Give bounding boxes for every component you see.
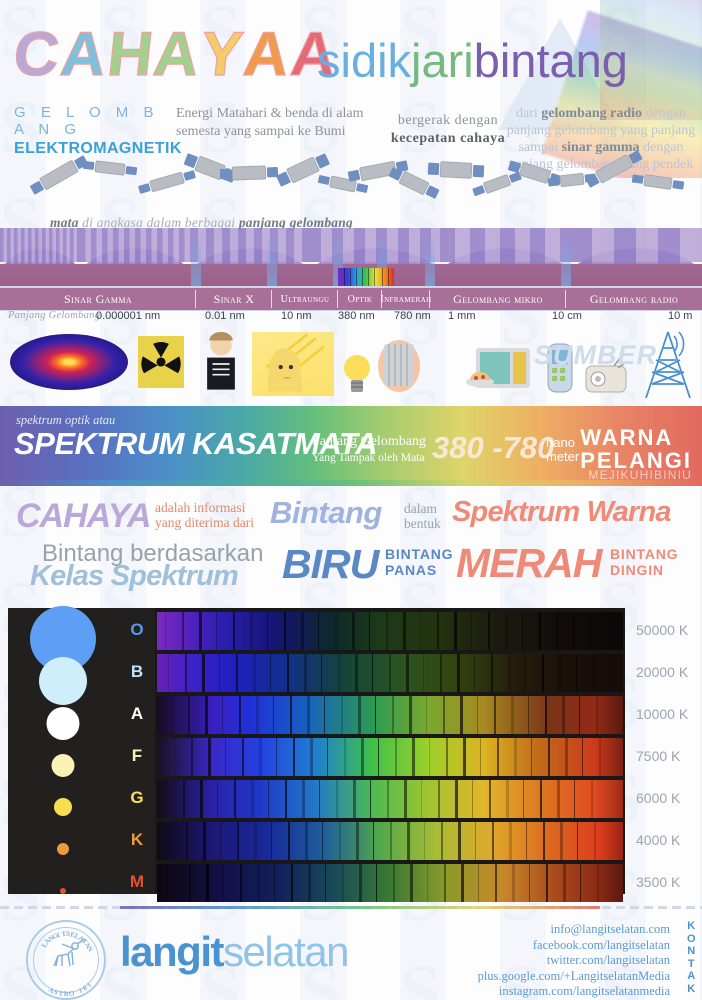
spectral-line xyxy=(368,268,369,286)
wavelength-value: 780 nm xyxy=(394,310,431,322)
em-band-gelombang-radio: Gelombang radio xyxy=(566,288,702,310)
absorption-line xyxy=(236,654,238,692)
spectral-line xyxy=(350,268,351,286)
absorption-line xyxy=(308,864,311,902)
absorption-line xyxy=(378,738,379,776)
absorption-line xyxy=(494,696,496,734)
absorption-line xyxy=(557,780,560,818)
absorption-line xyxy=(257,864,260,902)
wavelength-value: 1 mm xyxy=(448,310,476,322)
absorption-line xyxy=(580,864,581,902)
absorption-line xyxy=(370,780,371,818)
absorption-line xyxy=(523,780,524,818)
spectrum-divider xyxy=(0,480,702,486)
absorption-line xyxy=(480,738,481,776)
absorption-line xyxy=(169,822,170,860)
absorption-line xyxy=(225,738,226,776)
absorption-line xyxy=(182,612,184,650)
band-beam xyxy=(191,234,201,286)
absorption-line xyxy=(253,654,256,692)
wave-segment-top xyxy=(310,228,440,262)
absorption-line xyxy=(455,780,458,818)
absorption-line xyxy=(341,696,343,734)
absorption-line xyxy=(526,822,527,860)
absorption-line xyxy=(287,654,289,692)
title-letter: A xyxy=(151,19,205,90)
absorption-line xyxy=(203,822,206,860)
absorption-line xyxy=(509,822,512,860)
absorption-line xyxy=(542,654,544,692)
subtitle-word: sidik xyxy=(317,33,411,88)
satellite-icon xyxy=(398,171,429,196)
absorption-line xyxy=(206,864,209,902)
absorption-line xyxy=(511,696,514,734)
absorption-line xyxy=(259,738,262,776)
absorption-line xyxy=(273,696,274,734)
intro-fragment: dari xyxy=(516,106,541,121)
absorption-line xyxy=(189,864,191,902)
absorption-line xyxy=(438,780,440,818)
absorption-line xyxy=(185,654,187,692)
wave-segment-top xyxy=(190,228,310,262)
absorption-line xyxy=(239,696,241,734)
absorption-line xyxy=(254,822,257,860)
absorption-line xyxy=(305,822,308,860)
absorption-line xyxy=(386,612,388,650)
absorption-line xyxy=(577,822,578,860)
absorption-line xyxy=(489,780,491,818)
absorption-line xyxy=(223,864,224,902)
contact-line[interactable]: twitter.com/langitselatan xyxy=(478,953,670,969)
satellite-icon xyxy=(286,156,320,183)
contact-line[interactable]: instagram.com/langitselatanmedia xyxy=(478,984,670,1000)
wave-segment-top xyxy=(440,228,570,262)
absorption-line xyxy=(407,822,410,860)
absorption-line xyxy=(285,780,287,818)
satellite-icon xyxy=(643,174,672,190)
absorption-line xyxy=(234,780,236,818)
wavelength-value: 0.01 nm xyxy=(205,310,245,322)
band-beam xyxy=(425,234,435,286)
spectral-line xyxy=(356,268,357,286)
absorption-line xyxy=(423,654,424,692)
satellite-icon xyxy=(440,161,473,179)
absorption-line xyxy=(514,738,517,776)
page-title: CAHAYAA xyxy=(14,19,338,90)
absorption-line xyxy=(471,612,472,650)
absorption-line xyxy=(291,864,293,902)
absorption-line xyxy=(454,612,457,650)
visible-caption: Panjang Gelombang Yang Tampak oleh Mata xyxy=(312,434,426,466)
absorption-line xyxy=(205,696,208,734)
absorption-line xyxy=(457,654,460,692)
absorption-line xyxy=(461,864,464,902)
absorption-line xyxy=(412,738,415,776)
infographic-page: SSSSSSSSSSSSSSSSSSSSSSSSSSSSSSSSSSSSSSSS… xyxy=(0,0,702,1000)
temperature-label-B: 20000 K xyxy=(636,664,688,680)
star-size-G xyxy=(54,798,72,816)
absorption-line xyxy=(387,780,389,818)
absorption-line xyxy=(477,696,478,734)
absorption-line xyxy=(217,780,218,818)
title-letter: H xyxy=(104,19,158,90)
absorption-line xyxy=(250,612,253,650)
absorption-line xyxy=(307,696,310,734)
adalah-line1: adalah informasi xyxy=(155,500,245,515)
absorption-line xyxy=(463,738,466,776)
mid-bintang: Bintang xyxy=(270,495,382,531)
absorption-line xyxy=(529,864,530,902)
absorption-line xyxy=(593,654,595,692)
absorption-line xyxy=(168,654,169,692)
band-beam xyxy=(561,234,571,286)
optical-spectrum-strip xyxy=(338,268,394,286)
absorption-line xyxy=(446,738,448,776)
absorption-line xyxy=(268,780,269,818)
subtitle-word: jari xyxy=(411,33,474,88)
absorption-line xyxy=(560,822,563,860)
spectrum-strip-K xyxy=(157,822,623,860)
absorption-line xyxy=(488,612,490,650)
absorption-line xyxy=(543,822,545,860)
satellite-icon xyxy=(519,162,552,184)
adalah-line2: yang diterima dari xyxy=(155,515,254,530)
absorption-line xyxy=(531,738,532,776)
absorption-line xyxy=(219,654,220,692)
absorption-line xyxy=(356,822,359,860)
visible-range: 380 -780 xyxy=(432,430,554,466)
speed-plain: bergerak dengan xyxy=(398,113,498,128)
spectral-line xyxy=(362,268,363,286)
absorption-line xyxy=(390,822,392,860)
absorption-line xyxy=(208,738,211,776)
absorption-line xyxy=(389,654,391,692)
star-size-column xyxy=(8,608,118,894)
absorption-line xyxy=(310,738,313,776)
mid-text-block: CAHAYA adalah informasi yang diterima da… xyxy=(0,490,702,590)
absorption-line xyxy=(421,780,422,818)
wave-segment-top xyxy=(80,228,190,262)
absorption-line xyxy=(392,696,394,734)
absorption-line xyxy=(200,780,203,818)
absorption-line xyxy=(546,864,548,902)
spectral-line xyxy=(374,268,375,286)
temperature-label-F: 7500 K xyxy=(636,748,680,764)
dalam-line1: dalam xyxy=(404,501,437,516)
spectrum-strip-M xyxy=(157,864,623,902)
absorption-line xyxy=(474,654,475,692)
dalam-line2: bentuk xyxy=(404,516,441,531)
absorption-line xyxy=(293,738,295,776)
absorption-line xyxy=(251,780,254,818)
absorption-line xyxy=(443,696,445,734)
absorption-line xyxy=(406,654,409,692)
logo-light: selatan xyxy=(223,928,348,975)
absorption-line xyxy=(359,864,362,902)
star-size-M xyxy=(60,888,66,894)
temperature-label-O: 50000 K xyxy=(636,622,688,638)
em-spectrum-band: Sinar GammaSinar XUltraunguOptikInframer… xyxy=(0,286,702,311)
biru-line2: PANAS xyxy=(385,562,437,578)
absorption-line xyxy=(460,696,463,734)
unit-line2: meter xyxy=(546,449,579,464)
absorption-line xyxy=(267,612,268,650)
absorption-line xyxy=(327,738,328,776)
absorption-line xyxy=(539,612,541,650)
absorption-line xyxy=(304,654,307,692)
absorption-line xyxy=(375,696,376,734)
absorption-line xyxy=(556,612,559,650)
absorption-line xyxy=(202,654,205,692)
absorption-line xyxy=(302,780,305,818)
temperature-label-K: 4000 K xyxy=(636,832,680,848)
absorption-line xyxy=(497,738,499,776)
absorption-line xyxy=(437,612,439,650)
absorption-line xyxy=(324,696,325,734)
spectrum-strip-F xyxy=(157,738,623,776)
absorption-line xyxy=(563,864,566,902)
absorption-line xyxy=(288,822,290,860)
absorption-line xyxy=(361,738,364,776)
contact-line[interactable]: info@langitselatan.com xyxy=(478,922,670,938)
absorption-line xyxy=(579,696,580,734)
rainbow-label: WARNA PELANGI xyxy=(580,426,692,472)
kontak-letter: A xyxy=(687,970,696,983)
visible-caption-line2: Yang Tampak oleh Mata xyxy=(312,452,424,464)
absorption-line xyxy=(424,822,425,860)
wavelength-axis-label: Panjang Gelombang xyxy=(8,310,100,321)
mid-adalah: adalah informasi yang diterima dari xyxy=(155,500,254,530)
kontak-label: KONTAK xyxy=(687,920,696,995)
absorption-line xyxy=(319,780,320,818)
absorption-line xyxy=(256,696,259,734)
langitselatan-seal-icon: LANGITSELATANASTRO 101 xyxy=(26,920,106,1000)
absorption-line xyxy=(191,738,193,776)
absorption-line xyxy=(573,612,574,650)
header: CAHAYAA sidik jari bintang G E L O M B A… xyxy=(0,0,702,178)
star-size-A xyxy=(47,707,80,740)
absorption-line xyxy=(274,864,275,902)
mid-spektrum-warna: Spektrum Warna xyxy=(452,496,671,529)
wave-segment-top xyxy=(570,228,702,262)
absorption-line xyxy=(404,780,407,818)
wavelength-row: Panjang Gelombang 0.000001 nm0.01 nm10 n… xyxy=(0,310,702,328)
temperature-label-G: 6000 K xyxy=(636,790,680,806)
absorption-line xyxy=(233,612,235,650)
em-wave-label: G E L O M B A N G ELEKTROMAGNETIK xyxy=(14,104,174,158)
absorption-line xyxy=(478,864,479,902)
wavelength-value: 10 nm xyxy=(281,310,312,322)
absorption-line xyxy=(284,612,286,650)
absorption-line xyxy=(216,612,217,650)
absorption-line xyxy=(290,696,292,734)
kontak-letter: K xyxy=(687,983,696,996)
absorption-line xyxy=(444,864,446,902)
wavelength-value: 10 cm xyxy=(552,310,582,322)
mid-kelas-spektrum: Kelas Spektrum xyxy=(30,560,238,593)
em-band-ultraungu: Ultraungu xyxy=(272,288,338,310)
absorption-line xyxy=(562,696,565,734)
absorption-line xyxy=(420,612,421,650)
absorption-line xyxy=(342,864,344,902)
absorption-line xyxy=(240,864,242,902)
absorption-line xyxy=(590,612,592,650)
mid-merah: MERAH xyxy=(456,540,601,587)
spectral-line xyxy=(344,268,345,286)
em-band-sinar-x: Sinar X xyxy=(196,288,272,310)
absorption-line xyxy=(492,822,494,860)
satellite-icon xyxy=(94,160,125,176)
absorption-line xyxy=(373,822,374,860)
absorption-line xyxy=(599,738,601,776)
absorption-line xyxy=(335,612,337,650)
absorption-line xyxy=(318,612,319,650)
satellite-icon xyxy=(559,173,584,187)
microwave-oven-icon xyxy=(466,346,530,390)
contact-line[interactable]: plus.google.com/+LangitselatanMedia xyxy=(478,969,670,985)
unit-line1: nano xyxy=(546,435,575,450)
absorption-line xyxy=(403,612,406,650)
temperature-label-M: 3500 K xyxy=(636,874,680,890)
em-band-gelombang-mikro: Gelombang mikro xyxy=(430,288,566,310)
absorption-line xyxy=(183,780,185,818)
em-label-line2: ELEKTROMAGNETIK xyxy=(14,140,174,158)
absorption-line xyxy=(582,738,583,776)
intro-paragraph-2: bergerak dengan kecepatan cahaya xyxy=(388,112,508,148)
logo-bold: langit xyxy=(120,928,223,975)
absorption-line xyxy=(172,864,173,902)
speed-bold: kecepatan cahaya xyxy=(391,131,505,146)
absorption-line xyxy=(506,780,509,818)
contact-line[interactable]: facebook.com/langitselatan xyxy=(478,938,670,954)
absorption-line xyxy=(596,696,598,734)
contact-list[interactable]: info@langitselatan.comfacebook.com/langi… xyxy=(478,922,670,1000)
intro-paragraph-1: Energi Matahari & benda di alam semesta … xyxy=(176,105,376,141)
absorption-line xyxy=(353,780,356,818)
star-size-B xyxy=(39,657,87,705)
brand-logo[interactable]: langitselatan xyxy=(120,928,348,976)
absorption-line xyxy=(321,654,322,692)
absorption-line xyxy=(338,654,340,692)
spectral-class-O: O xyxy=(122,620,152,640)
absorption-line xyxy=(548,738,550,776)
merah-line2: DINGIN xyxy=(610,562,664,578)
absorption-line xyxy=(188,696,190,734)
absorption-line xyxy=(325,864,326,902)
absorption-line xyxy=(525,654,526,692)
centaur-icon xyxy=(28,922,100,994)
absorption-line xyxy=(545,696,547,734)
absorption-line xyxy=(165,612,166,650)
mid-biru: BIRU xyxy=(282,541,378,588)
absorption-line xyxy=(522,612,523,650)
absorption-line xyxy=(429,738,430,776)
title-letter: C xyxy=(10,19,64,90)
absorption-line xyxy=(565,738,568,776)
absorption-line xyxy=(322,822,323,860)
spectrum-strip-G xyxy=(157,780,623,818)
spectral-line xyxy=(388,268,389,286)
absorption-line xyxy=(597,864,599,902)
satellite-icon xyxy=(149,172,185,193)
absorption-line xyxy=(528,696,529,734)
satellite-icon xyxy=(39,159,79,190)
absorption-line xyxy=(358,696,361,734)
absorption-line xyxy=(186,822,188,860)
em-band-inframerah: Inframerah xyxy=(382,288,430,310)
em-label-line1: G E L O M B A N G xyxy=(14,104,174,138)
wavelength-value: 10 m xyxy=(668,310,692,322)
kontak-letter: N xyxy=(687,945,696,958)
spectral-class-chart: O50000 KB20000 KA10000 KF7500 KG6000 KK4… xyxy=(0,600,702,902)
absorption-line xyxy=(171,696,172,734)
spectrum-strip-A xyxy=(157,696,623,734)
absorption-line xyxy=(458,822,461,860)
visible-spectrum-bar: spektrum optik atau SPEKTRUM KASATMATA P… xyxy=(0,406,702,480)
spectral-class-F: F xyxy=(122,746,152,766)
rainbow-line1: WARNA xyxy=(580,425,673,450)
absorption-line xyxy=(574,780,575,818)
absorption-line xyxy=(426,696,427,734)
absorption-line xyxy=(344,738,346,776)
radiation-hazard-icon xyxy=(138,336,184,388)
absorption-line xyxy=(410,864,413,902)
absorption-line xyxy=(508,654,511,692)
absorption-line xyxy=(222,696,223,734)
absorption-line xyxy=(540,780,542,818)
em-band-optik: Optik xyxy=(338,288,382,310)
absorption-line xyxy=(409,696,412,734)
absorption-line xyxy=(369,612,370,650)
satellite-icon xyxy=(483,174,512,194)
absorption-line xyxy=(276,738,277,776)
absorption-line xyxy=(491,654,493,692)
space-heater-icon xyxy=(378,338,420,394)
merah-line1: BINTANG xyxy=(610,546,678,562)
mid-cahaya: CAHAYA xyxy=(16,497,150,536)
em-band-sinar-gamma: Sinar Gamma xyxy=(0,288,196,310)
intro-fragment: gelombang radio xyxy=(541,106,642,121)
absorption-line xyxy=(301,612,304,650)
spectral-class-B: B xyxy=(122,662,152,682)
kontak-letter: O xyxy=(687,933,696,946)
star-size-K xyxy=(57,843,69,855)
absorption-line xyxy=(505,612,508,650)
intro-fragment: sinar gamma xyxy=(562,140,640,155)
absorption-line xyxy=(495,864,497,902)
page-subtitle: sidik jari bintang xyxy=(317,33,628,88)
title-letter: A xyxy=(241,19,295,90)
visible-caption-line1: Panjang Gelombang xyxy=(312,434,426,449)
absorption-line xyxy=(199,612,202,650)
absorption-line xyxy=(237,822,239,860)
mid-bintang-panas: BINTANG PANAS xyxy=(385,546,453,578)
absorption-line xyxy=(220,822,221,860)
title-letter: A xyxy=(57,19,111,90)
absorption-line xyxy=(372,654,373,692)
absorption-line xyxy=(270,654,271,692)
absorption-line xyxy=(576,654,577,692)
absorption-line xyxy=(395,738,397,776)
absorption-line xyxy=(174,738,175,776)
absorption-line xyxy=(242,738,244,776)
absorption-line xyxy=(336,780,338,818)
absorption-line xyxy=(440,654,442,692)
gamma-ray-sky-map-icon xyxy=(10,334,128,390)
sources-label: SUMBER xyxy=(534,340,657,371)
kontak-letter: T xyxy=(687,958,696,971)
absorption-line xyxy=(472,780,473,818)
